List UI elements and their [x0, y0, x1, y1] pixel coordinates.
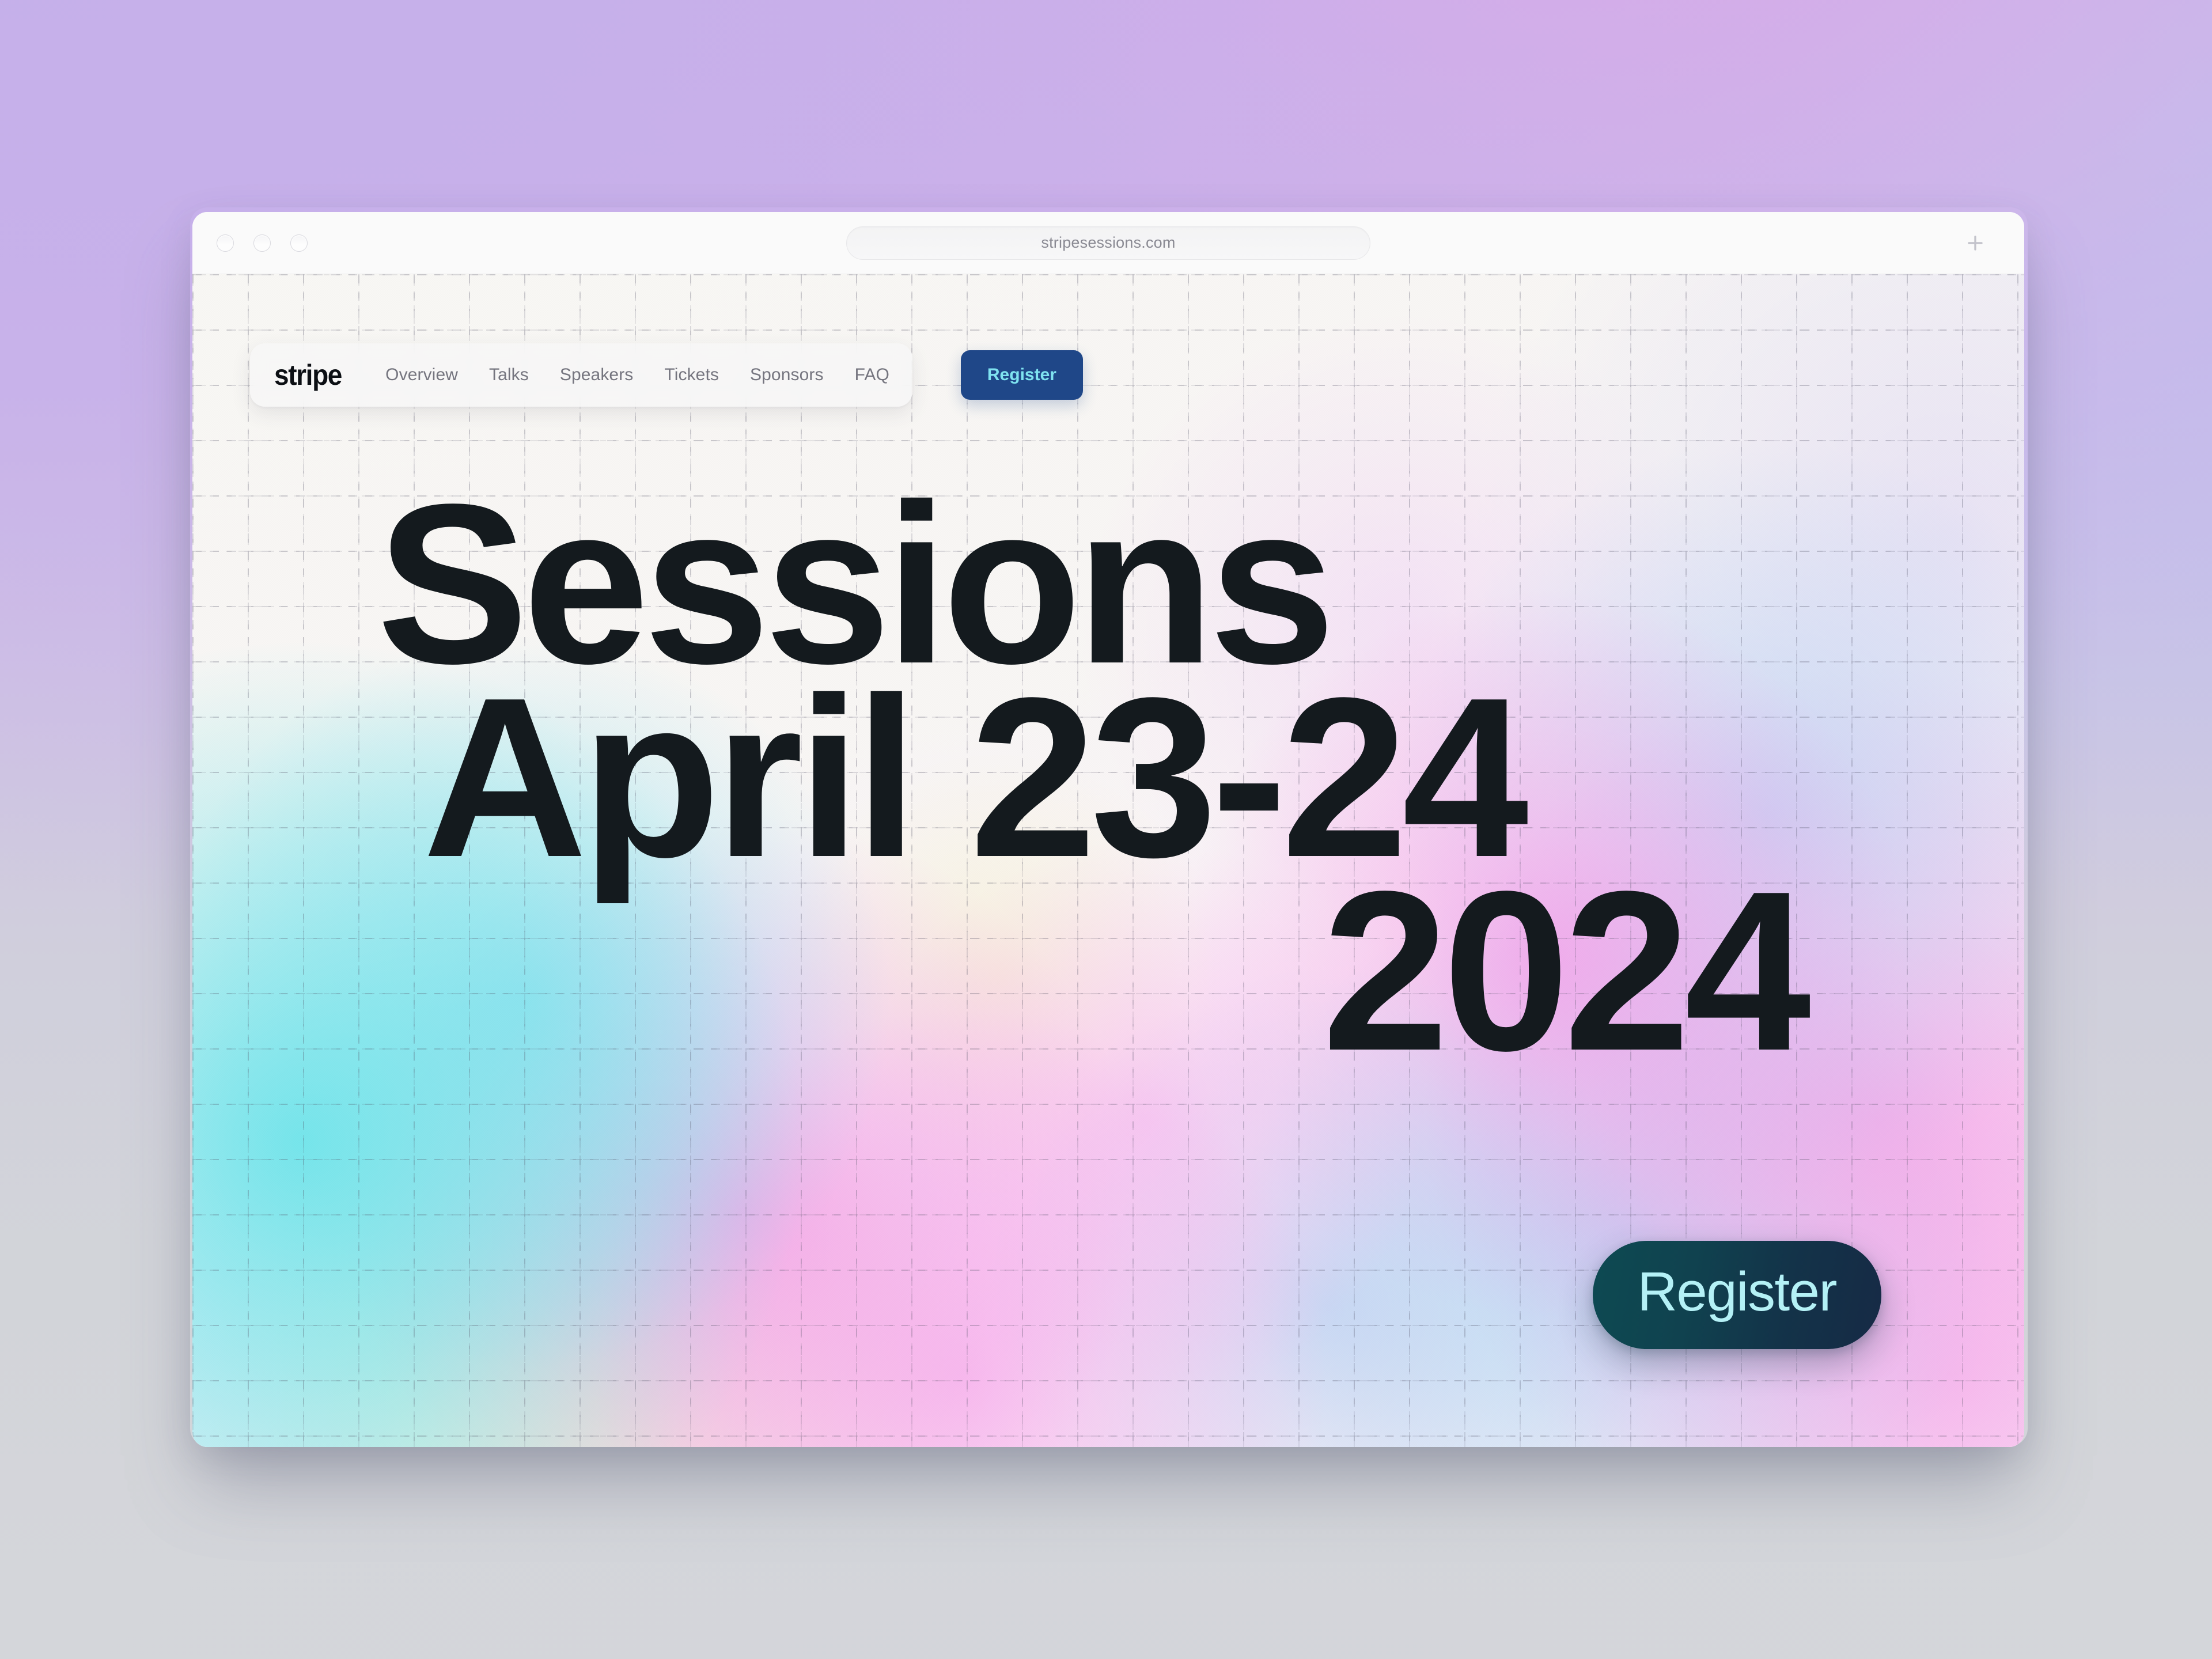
- stripe-logo[interactable]: stripe: [274, 358, 342, 392]
- address-bar[interactable]: stripesessions.com: [846, 226, 1370, 260]
- nav-item-faq[interactable]: FAQ: [855, 365, 889, 385]
- nav-item-talks[interactable]: Talks: [489, 365, 529, 385]
- nav-register-button[interactable]: Register: [961, 350, 1083, 400]
- minimize-window-button[interactable]: [253, 234, 271, 252]
- browser-chrome-bar: stripesessions.com: [192, 212, 2024, 274]
- nav-item-speakers[interactable]: Speakers: [560, 365, 634, 385]
- site-navigation: stripe Overview Talks Speakers Tickets S…: [250, 343, 1083, 407]
- new-tab-button[interactable]: [1962, 230, 1988, 256]
- maximize-window-button[interactable]: [290, 234, 308, 252]
- nav-item-overview[interactable]: Overview: [385, 365, 458, 385]
- traffic-light-group: [217, 234, 308, 252]
- address-bar-url: stripesessions.com: [1041, 234, 1175, 252]
- nav-item-tickets[interactable]: Tickets: [664, 365, 719, 385]
- browser-window: stripesessions.com stripe Overview Talks: [192, 212, 2024, 1447]
- plus-icon: [1964, 232, 1987, 255]
- nav-links: Overview Talks Speakers Tickets Sponsors…: [385, 365, 889, 385]
- hero-register-button[interactable]: Register: [1593, 1241, 1881, 1349]
- nav-pill: stripe Overview Talks Speakers Tickets S…: [250, 343, 912, 407]
- close-window-button[interactable]: [217, 234, 234, 252]
- page-viewport: stripe Overview Talks Speakers Tickets S…: [192, 274, 2024, 1447]
- nav-item-sponsors[interactable]: Sponsors: [750, 365, 824, 385]
